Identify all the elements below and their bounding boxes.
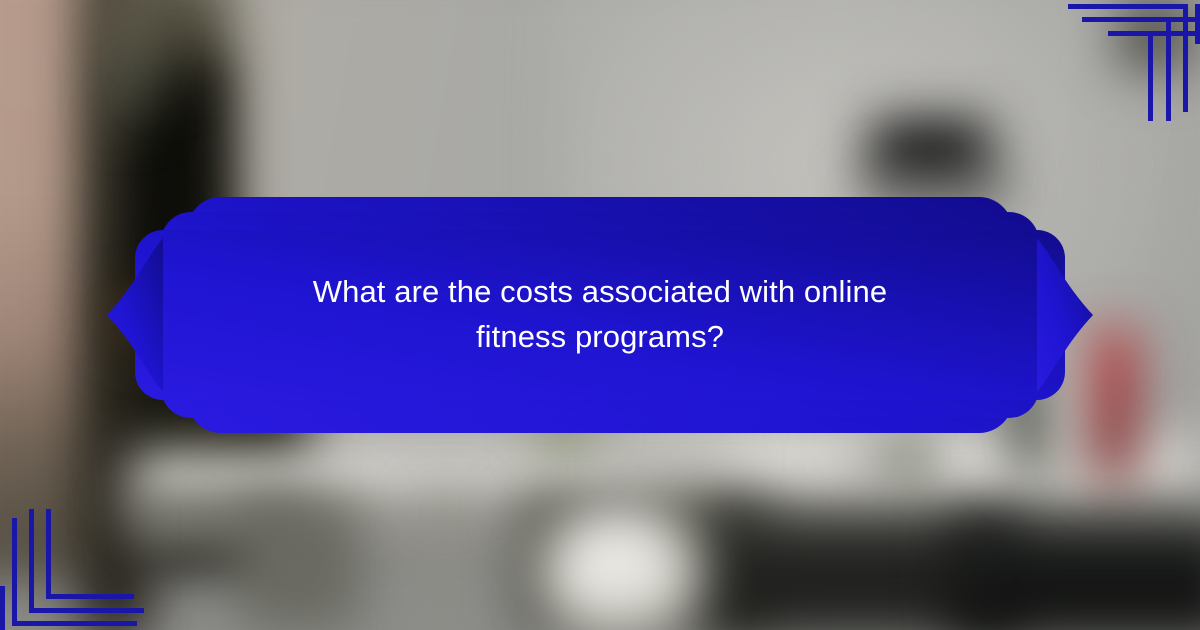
corner-bracket-top-right-line-1-horizontal bbox=[1068, 4, 1188, 9]
under-desk-shadow bbox=[950, 520, 1200, 630]
question-line-1: What are the costs associated with onlin… bbox=[313, 270, 887, 315]
book-2 bbox=[160, 20, 174, 90]
corner-bracket-bottom-left-line-1-vertical bbox=[12, 518, 17, 626]
corner-bracket-bottom-left-line-3-vertical bbox=[46, 509, 51, 599]
desk-object-2 bbox=[620, 450, 730, 466]
question-line-2: fitness programs? bbox=[476, 315, 724, 360]
corner-bracket-bottom-left-stub-1 bbox=[0, 586, 5, 630]
corner-bracket-bottom-left-line-2-horizontal bbox=[29, 608, 144, 613]
book-1 bbox=[120, 30, 142, 120]
small-plant bbox=[890, 440, 930, 480]
banner-stage: What are the costs associated with onlin… bbox=[0, 0, 1200, 630]
corner-bracket-top-right-line-3-vertical bbox=[1148, 31, 1153, 121]
desk-leg-1 bbox=[240, 500, 360, 630]
corner-bracket-bottom-left-line-3-horizontal bbox=[46, 594, 134, 599]
corner-bracket-bottom-left-line-2-vertical bbox=[29, 509, 34, 613]
question-badge: What are the costs associated with onlin… bbox=[105, 190, 1095, 440]
corner-bracket-bottom-left-line-1-horizontal bbox=[12, 621, 137, 626]
corner-bracket-top-right-line-2-horizontal bbox=[1082, 17, 1196, 22]
desk-object-1 bbox=[400, 460, 520, 478]
corner-bracket-top-right-stub-1 bbox=[1195, 4, 1200, 44]
red-bottle bbox=[1095, 330, 1133, 480]
white-vase bbox=[540, 505, 700, 630]
desk-leg-2 bbox=[430, 500, 460, 630]
badge-question-text: What are the costs associated with onlin… bbox=[105, 190, 1095, 440]
